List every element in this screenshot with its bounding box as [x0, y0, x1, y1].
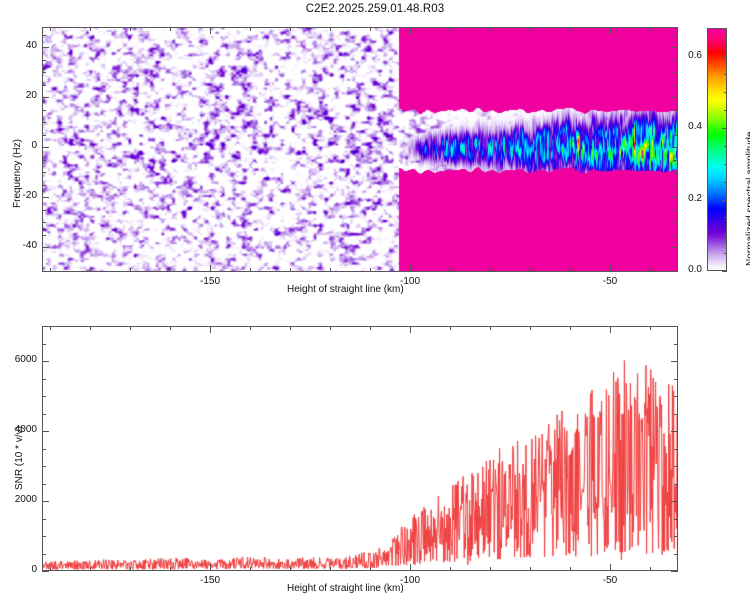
tick-mark	[170, 27, 171, 31]
tick-label: 6000	[2, 354, 37, 365]
tick-mark	[170, 567, 171, 571]
tick-mark	[210, 564, 211, 571]
tick-mark	[42, 554, 46, 555]
tick-mark	[410, 265, 411, 272]
tick-mark	[330, 326, 331, 330]
tick-label: 0.4	[671, 121, 702, 132]
tick-mark	[130, 268, 131, 272]
tick-mark	[674, 554, 678, 555]
tick-mark	[724, 146, 727, 147]
tick-mark	[130, 567, 131, 571]
tick-label: 20	[8, 90, 37, 101]
tick-mark	[42, 97, 49, 98]
tick-mark	[290, 27, 291, 31]
colorbar-gradient	[708, 29, 726, 270]
tick-mark	[674, 519, 678, 520]
tick-mark	[42, 571, 49, 572]
tick-label: 0.6	[671, 50, 702, 61]
tick-mark	[42, 449, 46, 450]
tick-mark	[530, 27, 531, 31]
tick-mark	[42, 361, 49, 362]
tick-mark	[50, 567, 51, 571]
tick-label: 0	[2, 564, 37, 575]
tick-mark	[674, 135, 678, 136]
tick-mark	[90, 326, 91, 330]
tick-mark	[42, 47, 49, 48]
tick-mark	[674, 85, 678, 86]
tick-label: 0	[8, 140, 37, 151]
tick-mark	[170, 268, 171, 272]
tick-mark	[42, 110, 46, 111]
tick-mark	[42, 122, 46, 123]
tick-mark	[42, 60, 46, 61]
tick-mark	[674, 35, 678, 36]
tick-mark	[330, 567, 331, 571]
tick-mark	[450, 27, 451, 31]
tick-mark	[42, 197, 49, 198]
tick-mark	[250, 567, 251, 571]
tick-mark	[674, 72, 678, 73]
colorbar-label: Normalized spectral amplitude	[745, 131, 750, 266]
tick-mark	[42, 396, 46, 397]
tick-mark	[722, 128, 727, 129]
tick-mark	[490, 567, 491, 571]
spectrogram-plot-area	[42, 27, 678, 272]
tick-mark	[650, 27, 651, 31]
tick-label: -50	[588, 575, 632, 586]
tick-mark	[724, 74, 727, 75]
tick-mark	[671, 361, 678, 362]
snr-ylabel: SNR (10 * v/v)	[14, 426, 25, 490]
tick-mark	[610, 265, 611, 272]
tick-label: -20	[8, 190, 37, 201]
tick-mark	[674, 536, 678, 537]
tick-mark	[671, 431, 678, 432]
tick-mark	[450, 326, 451, 330]
spectrogram-xlabel: Height of straight line (km)	[287, 284, 404, 295]
tick-mark	[674, 210, 678, 211]
tick-mark	[650, 567, 651, 571]
tick-mark	[42, 185, 46, 186]
tick-mark	[530, 268, 531, 272]
tick-mark	[42, 35, 46, 36]
tick-mark	[674, 326, 678, 327]
tick-mark	[674, 466, 678, 467]
tick-label: -150	[188, 575, 232, 586]
tick-mark	[42, 484, 46, 485]
tick-mark	[130, 326, 131, 330]
tick-label: -40	[8, 240, 37, 251]
tick-mark	[42, 235, 46, 236]
tick-mark	[674, 185, 678, 186]
tick-mark	[450, 268, 451, 272]
tick-mark	[42, 379, 46, 380]
tick-mark	[530, 326, 531, 330]
tick-label: 0.0	[671, 264, 702, 275]
tick-mark	[42, 85, 46, 86]
tick-mark	[610, 27, 611, 34]
tick-mark	[42, 72, 46, 73]
tick-mark	[250, 27, 251, 31]
tick-label: -50	[588, 276, 632, 287]
tick-mark	[410, 326, 411, 333]
tick-mark	[724, 164, 727, 165]
tick-mark	[42, 160, 46, 161]
tick-mark	[410, 564, 411, 571]
tick-mark	[370, 268, 371, 272]
tick-mark	[671, 571, 678, 572]
tick-mark	[450, 567, 451, 571]
tick-mark	[671, 501, 678, 502]
tick-mark	[170, 326, 171, 330]
tick-mark	[130, 27, 131, 31]
tick-mark	[671, 247, 678, 248]
tick-mark	[570, 326, 571, 330]
tick-mark	[370, 27, 371, 31]
tick-mark	[42, 501, 49, 502]
snr-trace	[43, 327, 678, 571]
tick-mark	[724, 92, 727, 93]
tick-mark	[722, 200, 727, 201]
tick-mark	[90, 27, 91, 31]
tick-mark	[674, 110, 678, 111]
tick-mark	[42, 431, 49, 432]
tick-mark	[490, 27, 491, 31]
tick-label: 40	[8, 40, 37, 51]
tick-mark	[671, 97, 678, 98]
tick-mark	[50, 27, 51, 31]
tick-label: 2000	[2, 494, 37, 505]
tick-mark	[674, 172, 678, 173]
tick-mark	[724, 182, 727, 183]
tick-mark	[42, 247, 49, 248]
tick-mark	[42, 147, 49, 148]
tick-mark	[724, 235, 727, 236]
tick-mark	[290, 567, 291, 571]
tick-label: -150	[188, 276, 232, 287]
tick-mark	[674, 484, 678, 485]
tick-mark	[210, 27, 211, 34]
tick-mark	[42, 414, 46, 415]
tick-mark	[674, 222, 678, 223]
tick-mark	[42, 536, 46, 537]
tick-mark	[674, 396, 678, 397]
tick-mark	[42, 519, 46, 520]
tick-mark	[42, 326, 46, 327]
tick-mark	[671, 47, 678, 48]
tick-mark	[724, 110, 727, 111]
tick-mark	[674, 235, 678, 236]
tick-mark	[722, 271, 727, 272]
tick-mark	[570, 567, 571, 571]
tick-mark	[610, 564, 611, 571]
tick-mark	[370, 326, 371, 330]
tick-mark	[250, 326, 251, 330]
tick-mark	[330, 268, 331, 272]
tick-mark	[722, 57, 727, 58]
tick-label: 4000	[2, 424, 37, 435]
tick-mark	[724, 39, 727, 40]
tick-mark	[42, 135, 46, 136]
tick-mark	[490, 326, 491, 330]
tick-mark	[210, 326, 211, 333]
tick-mark	[724, 253, 727, 254]
tick-mark	[330, 27, 331, 31]
tick-mark	[42, 344, 46, 345]
tick-mark	[410, 27, 411, 34]
tick-mark	[250, 268, 251, 272]
tick-mark	[530, 567, 531, 571]
figure-title: C2E2.2025.259.01.48.R03	[0, 3, 750, 15]
tick-mark	[42, 222, 46, 223]
figure-root: C2E2.2025.259.01.48.R03 Frequency (Hz) -…	[0, 0, 750, 600]
tick-mark	[42, 210, 46, 211]
tick-mark	[50, 326, 51, 330]
tick-mark	[370, 567, 371, 571]
tick-mark	[724, 217, 727, 218]
tick-mark	[570, 268, 571, 272]
tick-mark	[42, 466, 46, 467]
tick-mark	[570, 27, 571, 31]
tick-mark	[650, 268, 651, 272]
tick-mark	[42, 172, 46, 173]
tick-mark	[610, 326, 611, 333]
snr-plot-area	[42, 326, 678, 571]
tick-mark	[90, 268, 91, 272]
tick-mark	[290, 268, 291, 272]
tick-mark	[674, 344, 678, 345]
spectrogram-image	[43, 28, 678, 272]
tick-mark	[674, 379, 678, 380]
tick-mark	[650, 326, 651, 330]
tick-mark	[490, 268, 491, 272]
tick-mark	[90, 567, 91, 571]
tick-mark	[50, 268, 51, 272]
tick-mark	[674, 449, 678, 450]
tick-mark	[290, 326, 291, 330]
tick-label: 0.2	[671, 193, 702, 204]
tick-mark	[210, 265, 211, 272]
snr-xlabel: Height of straight line (km)	[287, 583, 404, 594]
tick-mark	[671, 147, 678, 148]
tick-mark	[674, 160, 678, 161]
tick-mark	[674, 414, 678, 415]
